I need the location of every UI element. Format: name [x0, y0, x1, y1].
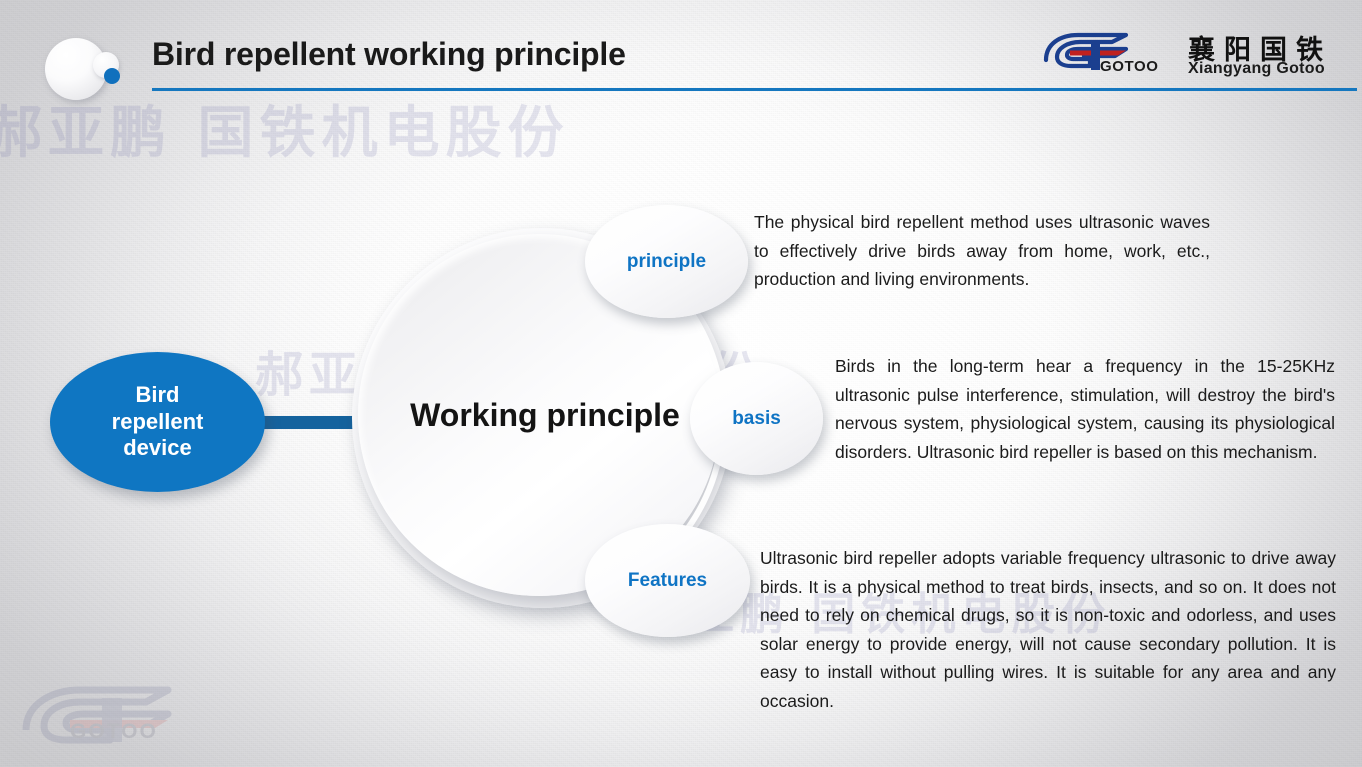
presentation-slide: 郝亚鹏 国铁机电股份 郝亚鹏 国铁机电股份 郝亚鹏 国铁机电股份 GOTOO B… — [0, 0, 1362, 767]
diagram-branch-basis[interactable]: basis — [690, 362, 823, 475]
diagram-center-node-label: Working principle — [410, 397, 680, 434]
body-paragraph-features-text: Ultrasonic bird repeller adopts variable… — [760, 544, 1336, 716]
diagram-branch-features[interactable]: Features — [585, 524, 750, 637]
diagram-branch-features-label: Features — [628, 570, 707, 592]
diagram-branch-basis-label: basis — [732, 408, 781, 430]
connector-line — [258, 416, 366, 429]
diagram-root-node[interactable]: Birdrepellentdevice — [50, 352, 265, 492]
body-paragraph-features: Ultrasonic bird repeller adopts variable… — [760, 544, 1336, 716]
body-paragraph-basis-text: Birds in the long-term hear a frequency … — [835, 352, 1335, 466]
body-paragraph-principle: The physical bird repellent method uses … — [754, 208, 1210, 294]
body-paragraph-principle-text: The physical bird repellent method uses … — [754, 208, 1210, 294]
diagram-root-node-label: Birdrepellentdevice — [112, 382, 204, 462]
diagram-branch-principle[interactable]: principle — [585, 205, 748, 318]
diagram-branch-principle-label: principle — [627, 251, 706, 273]
body-paragraph-basis: Birds in the long-term hear a frequency … — [835, 352, 1335, 466]
